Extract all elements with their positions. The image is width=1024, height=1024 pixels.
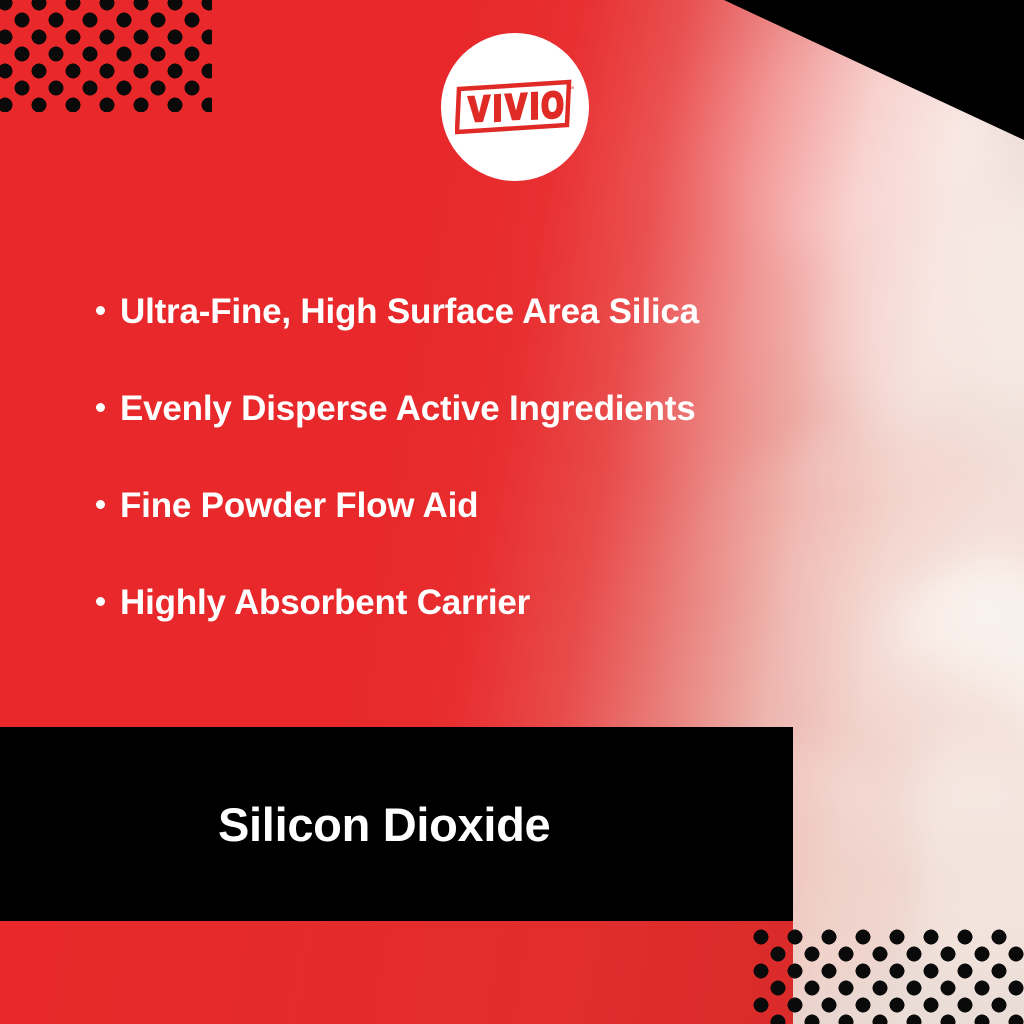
feature-label: Fine Powder Flow Aid [120,488,478,523]
dot-pattern-top-left [0,0,212,112]
bullet-dot-icon [96,306,105,315]
bottom-red-strip [0,921,793,1024]
dot-pattern-bottom-right [752,928,1024,1024]
vivion-logo: ™ [441,33,589,181]
vivion-logo-mark: ™ [455,77,575,137]
trademark-symbol: ™ [567,86,574,93]
list-item: Evenly Disperse Active Ingredients [96,391,856,488]
bullet-dot-icon [96,597,105,606]
bullet-dot-icon [96,403,105,412]
feature-label: Evenly Disperse Active Ingredients [120,391,695,426]
list-item: Highly Absorbent Carrier [96,585,856,682]
bullet-dot-icon [96,500,105,509]
list-item: Ultra-Fine, High Surface Area Silica [96,294,856,391]
feature-label: Ultra-Fine, High Surface Area Silica [120,294,699,329]
page-title: Silicon Dioxide [0,797,550,852]
title-bar: Silicon Dioxide [0,727,793,921]
list-item: Fine Powder Flow Aid [96,488,856,585]
feature-label: Highly Absorbent Carrier [120,585,530,620]
marketing-graphic: ™ Ultra-Fine, High Surface Area Silica E… [0,0,1024,1024]
feature-list: Ultra-Fine, High Surface Area Silica Eve… [96,294,856,682]
